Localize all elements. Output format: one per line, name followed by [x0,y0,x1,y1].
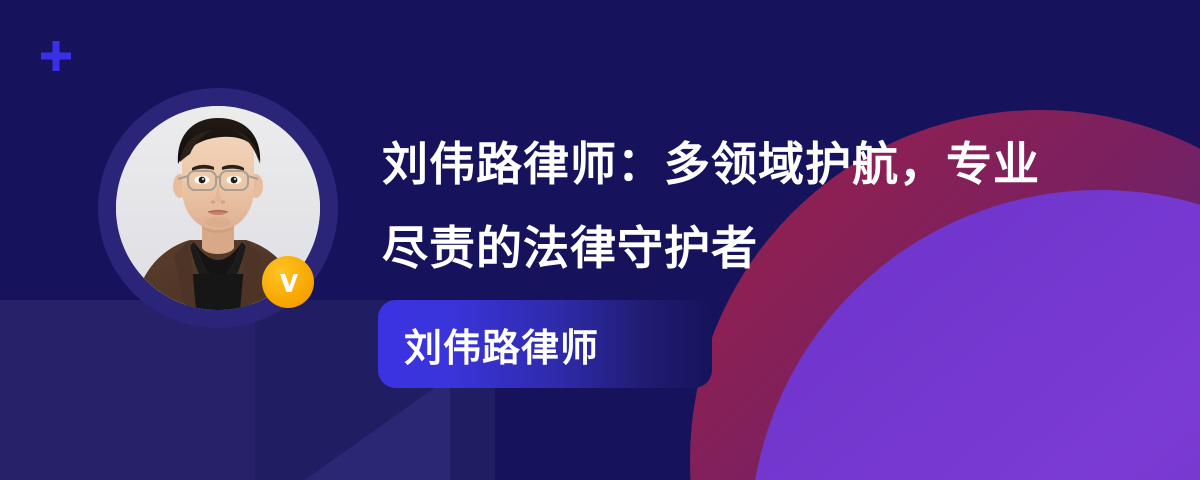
name-pill-label: 刘伟路律师 [404,317,599,372]
name-pill[interactable]: 刘伟路律师 [378,300,712,388]
plus-icon [38,38,74,74]
avatar[interactable] [98,88,338,328]
page-title: 刘伟路律师：多领域护航，专业尽责的法律守护者 [382,122,1082,290]
profile-banner: 刘伟路律师 刘伟路律师：多领域护航，专业尽责的法律守护者 [0,0,1200,480]
verified-badge-icon [262,256,314,308]
